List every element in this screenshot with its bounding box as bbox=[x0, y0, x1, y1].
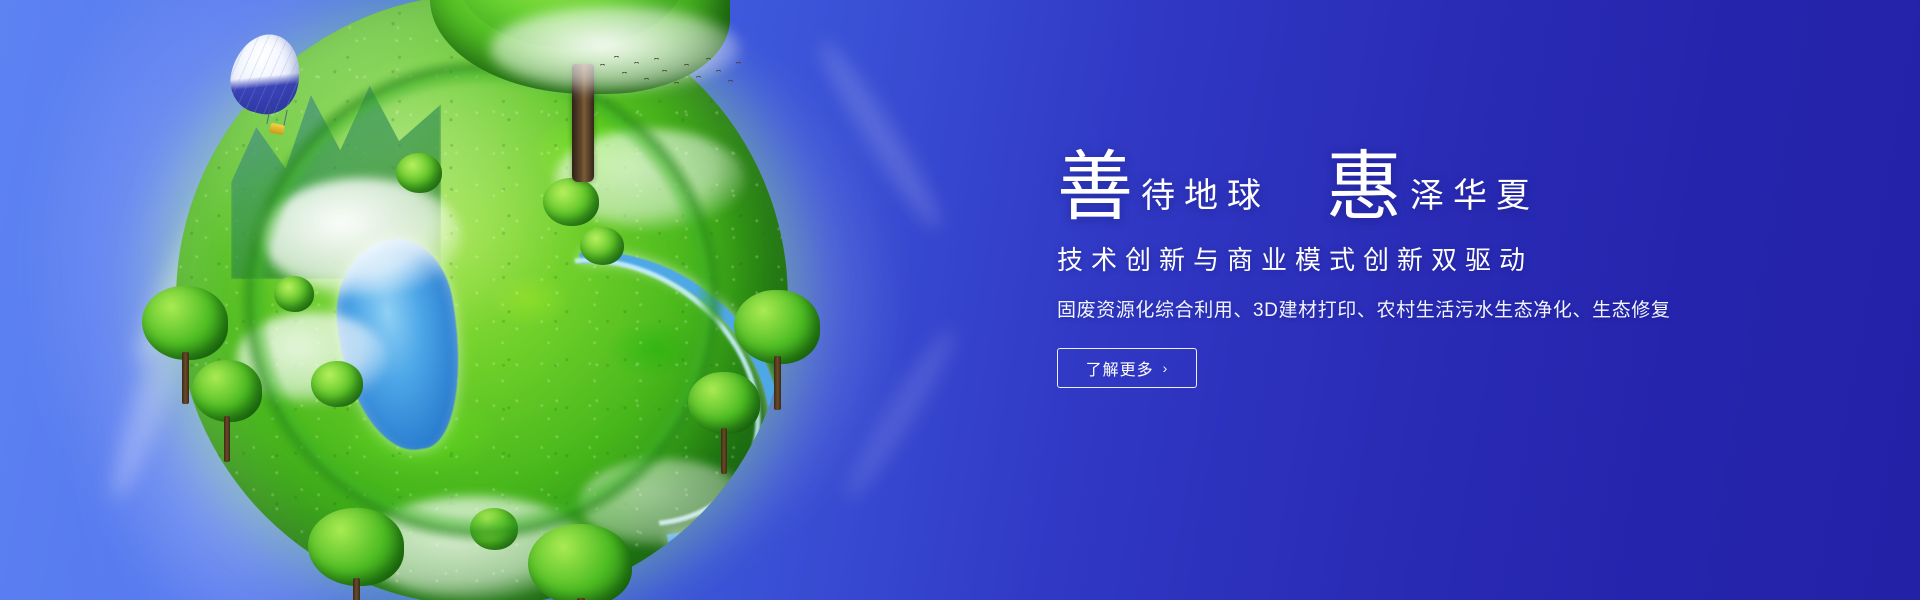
hero-banner: 善 待地球 惠 泽华夏 技术创新与商业模式创新双驱动 固废资源化综合利用、3D建… bbox=[0, 0, 1920, 600]
bird-flock bbox=[596, 52, 746, 100]
horizon-tree bbox=[192, 360, 262, 464]
river-highlight bbox=[421, 203, 788, 582]
river bbox=[409, 192, 788, 600]
learn-more-label: 了解更多 bbox=[1086, 356, 1154, 380]
cloud bbox=[360, 496, 590, 600]
headline-rest-2: 泽华夏 bbox=[1402, 180, 1539, 226]
horizon-tree bbox=[528, 524, 632, 600]
bird-icon bbox=[614, 56, 619, 59]
horizon-tree bbox=[308, 508, 404, 600]
horizon-tree bbox=[688, 372, 760, 476]
headline-rest-1: 待地球 bbox=[1133, 180, 1270, 226]
tree-tuft bbox=[311, 361, 363, 407]
horizon-tree bbox=[142, 286, 228, 406]
learn-more-button[interactable]: 了解更多 › bbox=[1057, 348, 1197, 388]
bird-icon bbox=[662, 70, 667, 73]
hero-subtitle: 技术创新与商业模式创新双驱动 bbox=[1057, 240, 1757, 277]
hot-air-balloon-icon bbox=[232, 34, 306, 142]
lake-shore bbox=[315, 221, 479, 465]
bird-icon bbox=[728, 80, 733, 83]
bird-icon bbox=[622, 72, 627, 75]
cloud-streak bbox=[835, 322, 965, 506]
tree-tuft bbox=[274, 276, 314, 312]
bird-icon bbox=[696, 76, 701, 79]
headline-char-1: 善 bbox=[1057, 154, 1133, 226]
tree-tuft bbox=[580, 227, 624, 265]
bird-icon bbox=[684, 64, 689, 67]
bird-icon bbox=[644, 78, 649, 81]
balloon-basket bbox=[269, 123, 285, 136]
bird-icon bbox=[654, 58, 659, 61]
page-title: 善 待地球 惠 泽华夏 bbox=[1057, 140, 1757, 226]
tree-tuft bbox=[543, 178, 599, 226]
tree-tuft bbox=[470, 508, 518, 550]
headline-char-2: 惠 bbox=[1326, 154, 1402, 226]
horizon-tree bbox=[734, 290, 820, 412]
cloud-streak bbox=[100, 249, 221, 505]
balloon-seams bbox=[223, 27, 308, 121]
cloud bbox=[262, 178, 462, 296]
bird-icon bbox=[736, 62, 741, 65]
bird-icon bbox=[706, 58, 711, 61]
cloud-streak bbox=[809, 34, 951, 236]
bird-icon bbox=[600, 64, 605, 67]
hero-copy: 善 待地球 惠 泽华夏 技术创新与商业模式创新双驱动 固废资源化综合利用、3D建… bbox=[1057, 140, 1757, 388]
hero-description: 固废资源化综合利用、3D建材打印、农村生活污水生态净化、生态修复 bbox=[1057, 295, 1757, 322]
cloud bbox=[237, 312, 387, 404]
bird-icon bbox=[716, 70, 721, 73]
bird-icon bbox=[674, 82, 679, 85]
chevron-right-icon: › bbox=[1163, 360, 1169, 376]
bird-icon bbox=[634, 62, 639, 65]
cloud bbox=[580, 459, 750, 547]
lake bbox=[325, 231, 475, 459]
